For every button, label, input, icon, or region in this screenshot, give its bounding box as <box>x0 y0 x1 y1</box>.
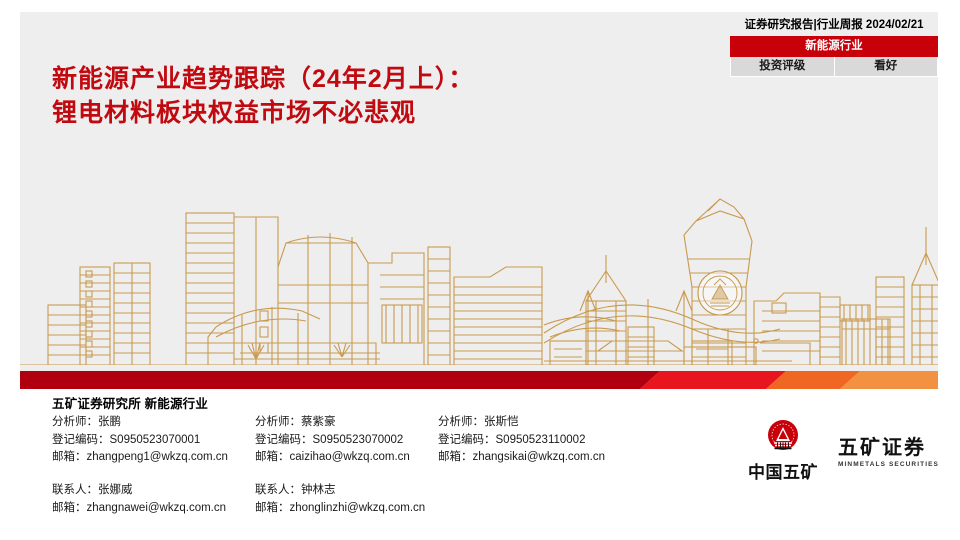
analyst-name: 分析师：张斯恺 <box>438 414 638 432</box>
analyst-column: 分析师：张斯恺 登记编码：S0950523110002 邮箱：zhangsika… <box>438 414 638 467</box>
contact-list: 联系人：张娜威 邮箱：zhangnawei@wkzq.com.cn 联系人：钟林… <box>52 482 455 517</box>
china-minmetals-text: 中国五矿 <box>740 458 826 483</box>
contact-column: 联系人：钟林志 邮箱：zhonglinzhi@wkzq.com.cn <box>255 482 455 517</box>
rating-key: 投资评级 <box>731 57 835 77</box>
minmetals-securities-logo: 五矿证券 MINMETALS SECURITIES <box>838 431 939 468</box>
securities-name-en: MINMETALS SECURITIES <box>838 461 939 468</box>
analyst-license: 登记编码：S0950523070002 <box>255 432 438 450</box>
band-segment-red <box>640 371 786 389</box>
analyst-column: 分析师：蔡紫豪 登记编码：S0950523070002 邮箱：caizihao@… <box>255 414 438 467</box>
analyst-license: 登记编码：S0950523070001 <box>52 432 255 450</box>
accent-color-band <box>20 371 938 389</box>
rating-value: 看好 <box>834 57 938 77</box>
analyst-name: 分析师：蔡紫豪 <box>255 414 438 432</box>
contact-name: 联系人：张娜威 <box>52 482 255 500</box>
contact-name: 联系人：钟林志 <box>255 482 455 500</box>
title-line-1: 新能源产业趋势跟踪（24年2月上）： <box>52 62 474 96</box>
sector-label: 新能源行业 <box>731 37 938 57</box>
contact-email[interactable]: 邮箱：zhangnawei@wkzq.com.cn <box>52 500 255 518</box>
securities-name-cn: 五矿证券 <box>838 431 939 460</box>
minmetals-emblem-icon <box>763 417 803 457</box>
rating-row: 投资评级 看好 <box>731 57 938 77</box>
report-cover-page: 新能源产业趋势跟踪（24年2月上）： 锂电材料板块权益市场不必悲观 证券研究报告… <box>0 0 960 540</box>
contact-column: 联系人：张娜威 邮箱：zhangnawei@wkzq.com.cn <box>52 482 255 517</box>
china-minmetals-logo: 中国五矿 <box>740 417 826 483</box>
analyst-column: 分析师：张鹏 登记编码：S0950523070001 邮箱：zhangpeng1… <box>52 414 255 467</box>
analyst-name: 分析师：张鹏 <box>52 414 255 432</box>
footer-block: 五矿证券研究所 新能源行业 分析师：张鹏 登记编码：S0950523070001… <box>0 389 960 540</box>
sector-row: 新能源行业 <box>731 37 938 57</box>
analyst-list: 分析师：张鹏 登记编码：S0950523070001 邮箱：zhangpeng1… <box>52 414 638 467</box>
analyst-email[interactable]: 邮箱：caizihao@wkzq.com.cn <box>255 449 438 467</box>
analyst-email[interactable]: 邮箱：zhangsikai@wkzq.com.cn <box>438 449 638 467</box>
report-title: 新能源产业趋势跟踪（24年2月上）： 锂电材料板块权益市场不必悲观 <box>52 62 474 130</box>
title-line-2: 锂电材料板块权益市场不必悲观 <box>52 96 474 130</box>
analyst-email[interactable]: 邮箱：zhangpeng1@wkzq.com.cn <box>52 449 255 467</box>
analyst-license: 登记编码：S0950523110002 <box>438 432 638 450</box>
investment-rating-table: 新能源行业 投资评级 看好 <box>730 36 938 77</box>
header-meta-block: 证券研究报告|行业周报 2024/02/21 新能源行业 投资评级 看好 <box>730 18 938 77</box>
city-skyline-illustration <box>20 115 938 365</box>
report-meta-line: 证券研究报告|行业周报 2024/02/21 <box>730 18 938 33</box>
research-institute-heading: 五矿证券研究所 新能源行业 <box>52 393 208 412</box>
band-segment-dark-red <box>20 371 660 389</box>
brand-logo-group: 中国五矿 五矿证券 MINMETALS SECURITIES <box>738 417 938 497</box>
contact-email[interactable]: 邮箱：zhonglinzhi@wkzq.com.cn <box>255 500 455 518</box>
